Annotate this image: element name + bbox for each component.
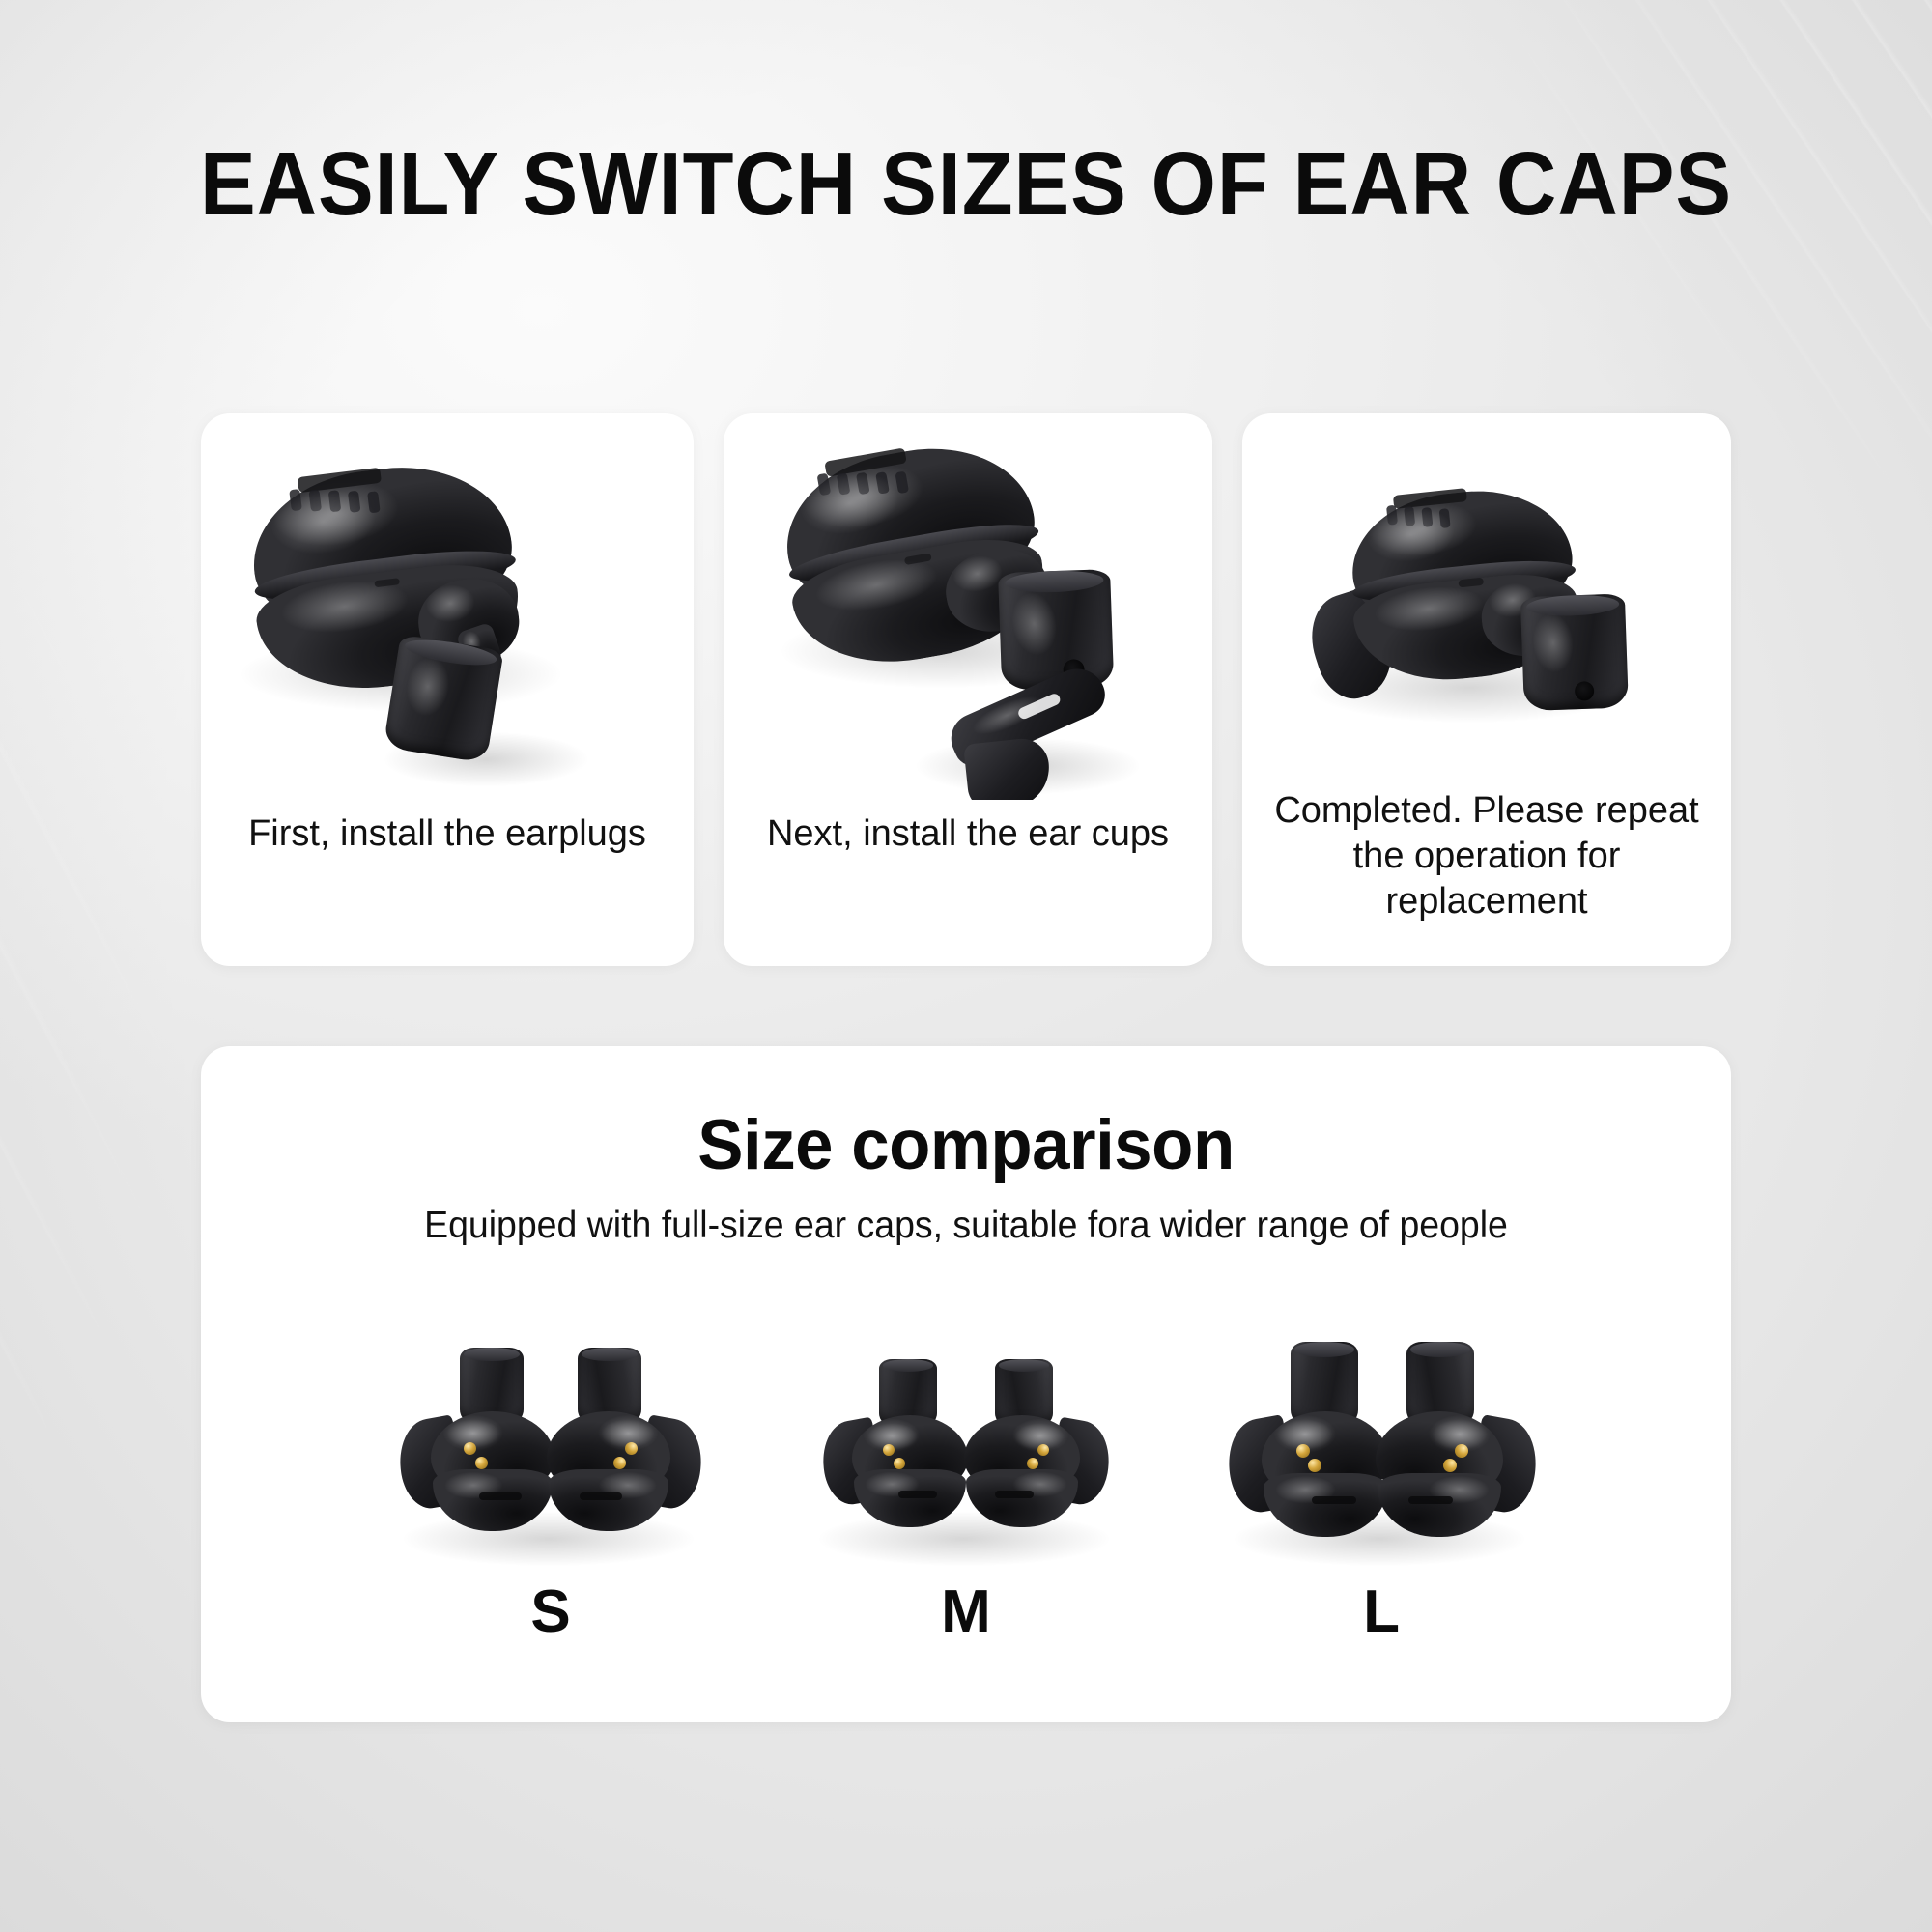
earbud-pair-m-artwork xyxy=(763,1326,1169,1566)
step-caption-2: Next, install the ear cups xyxy=(724,811,1212,857)
assembled-earbud-photo xyxy=(1242,413,1731,800)
size-column-m: M xyxy=(763,1326,1169,1674)
step-caption-3: Completed. Please repeat the operation f… xyxy=(1242,788,1731,924)
earbud-pair-l-artwork xyxy=(1179,1326,1584,1566)
step-card-3: Completed. Please repeat the operation f… xyxy=(1242,413,1731,966)
size-label-m: M xyxy=(763,1579,1169,1645)
step-card-1: First, install the earplugs xyxy=(201,413,694,966)
size-comparison-heading: Size comparison xyxy=(224,1106,1708,1185)
size-label-s: S xyxy=(348,1579,753,1645)
step-caption-1: First, install the earplugs xyxy=(201,811,694,857)
size-label-l: L xyxy=(1179,1579,1584,1645)
size-comparison-panel: Size comparison Equipped with full-size … xyxy=(201,1046,1731,1722)
page-title: EASILY SWITCH SIZES OF EAR CAPS xyxy=(68,135,1864,232)
earbud-with-detached-earplug-photo xyxy=(201,413,694,800)
size-column-s: S xyxy=(348,1326,753,1674)
earbud-with-detached-ear-cup-photo xyxy=(724,413,1212,800)
size-column-l: L xyxy=(1179,1326,1584,1674)
infographic-page: EASILY SWITCH SIZES OF EAR CAPS xyxy=(0,0,1932,1932)
step-card-2: Next, install the ear cups xyxy=(724,413,1212,966)
earbud-pair-s-artwork xyxy=(348,1326,753,1566)
size-comparison-subtitle: Equipped with full-size ear caps, suitab… xyxy=(232,1201,1701,1250)
